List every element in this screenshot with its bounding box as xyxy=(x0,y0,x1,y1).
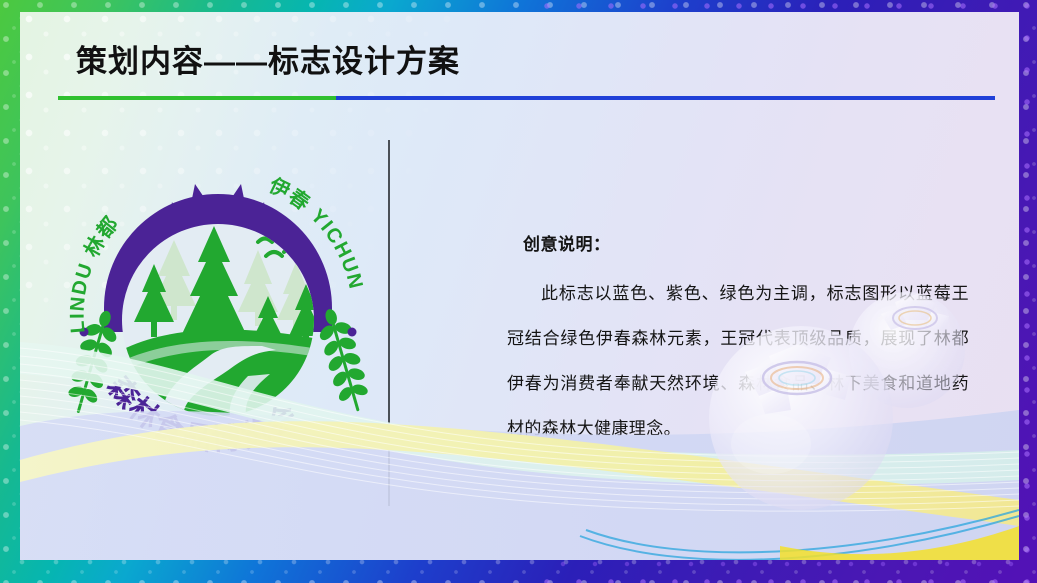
page-title: 策划内容——标志设计方案 xyxy=(58,40,978,84)
slide-root: 策划内容——标志设计方案 xyxy=(0,0,1037,583)
logo: LINDU 林都 伊春 YICHUN 森林食品博览会 xyxy=(62,144,374,462)
description-paragraph: 此标志以蓝色、紫色、绿色为主调，标志图形以蓝莓王冠结合绿色伊春森林元素，王冠代表… xyxy=(507,271,969,451)
description-heading: 创意说明： xyxy=(523,230,969,255)
title-underline xyxy=(58,96,995,100)
logo-dot-right xyxy=(348,328,357,337)
slide-header: 策划内容——标志设计方案 xyxy=(58,40,978,104)
title-underline-green xyxy=(58,96,336,100)
title-underline-blue xyxy=(336,96,995,100)
vertical-divider xyxy=(388,140,390,506)
slide-panel: 策划内容——标志设计方案 xyxy=(20,12,1019,560)
creative-description: 创意说明： 此标志以蓝色、紫色、绿色为主调，标志图形以蓝莓王冠结合绿色伊春森林元… xyxy=(507,230,969,451)
